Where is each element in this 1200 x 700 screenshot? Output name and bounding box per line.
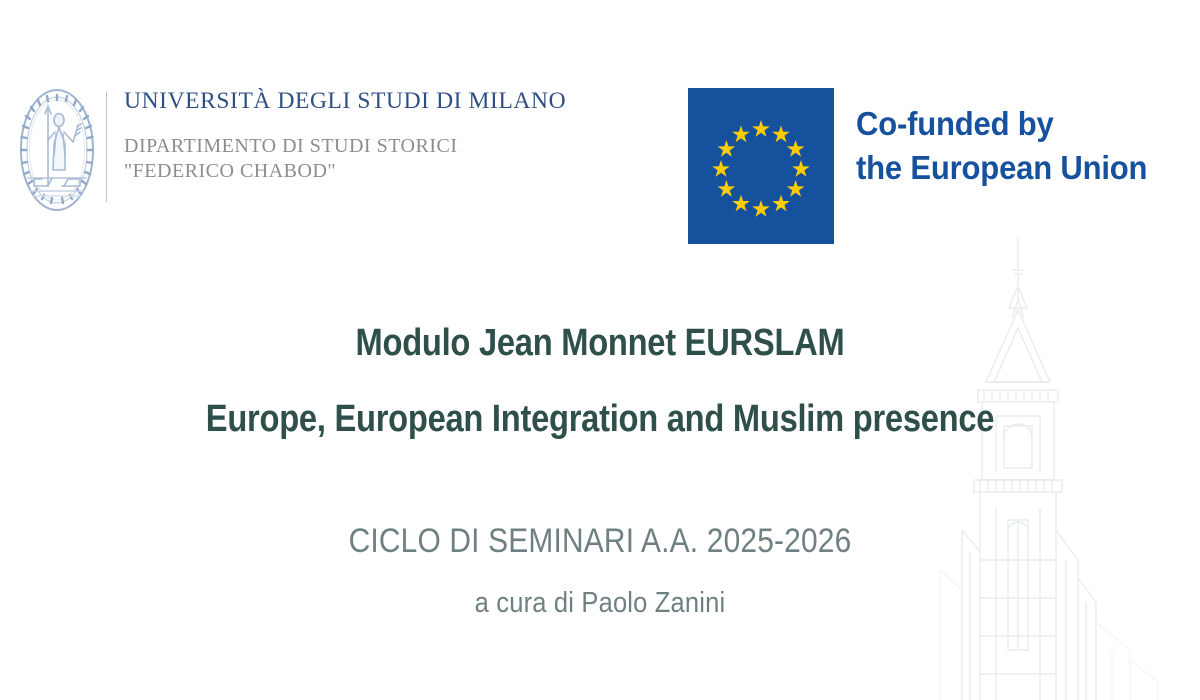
- eu-funding-line2: the European Union: [856, 146, 1147, 190]
- poster-header: UNIVERSITÀ DEGLI STUDI DI MILANO DIPARTI…: [0, 0, 1200, 260]
- curator-label: a cura di Paolo Zanini: [72, 589, 1128, 618]
- university-logo-lockup: UNIVERSITÀ DEGLI STUDI DI MILANO DIPARTI…: [18, 84, 566, 214]
- seminar-series-label: CICLO DI SEMINARI A.A. 2025-2026: [72, 524, 1128, 558]
- department-name: DIPARTIMENTO DI STUDI STORICI: [124, 134, 566, 160]
- page-title: Modulo Jean Monnet EURSLAM: [84, 324, 1116, 362]
- page-subtitle-heading: Europe, European Integration and Muslim …: [84, 400, 1116, 438]
- european-union-flag: [688, 88, 834, 244]
- university-name-block: UNIVERSITÀ DEGLI STUDI DI MILANO DIPARTI…: [107, 84, 566, 185]
- eu-funding-lockup: Co-funded by the European Union: [688, 88, 1166, 244]
- poster-canvas: UNIVERSITÀ DEGLI STUDI DI MILANO DIPARTI…: [0, 0, 1200, 700]
- eu-funding-line1: Co-funded by: [856, 102, 1147, 146]
- department-dedication: "FEDERICO CHABOD": [124, 159, 566, 185]
- eu-funding-text: Co-funded by the European Union: [856, 102, 1147, 190]
- universita-degli-studi-di-milano-seal: [18, 86, 96, 214]
- university-name: UNIVERSITÀ DEGLI STUDI DI MILANO: [124, 90, 566, 114]
- poster-main: Modulo Jean Monnet EURSLAM Europe, Europ…: [0, 300, 1200, 618]
